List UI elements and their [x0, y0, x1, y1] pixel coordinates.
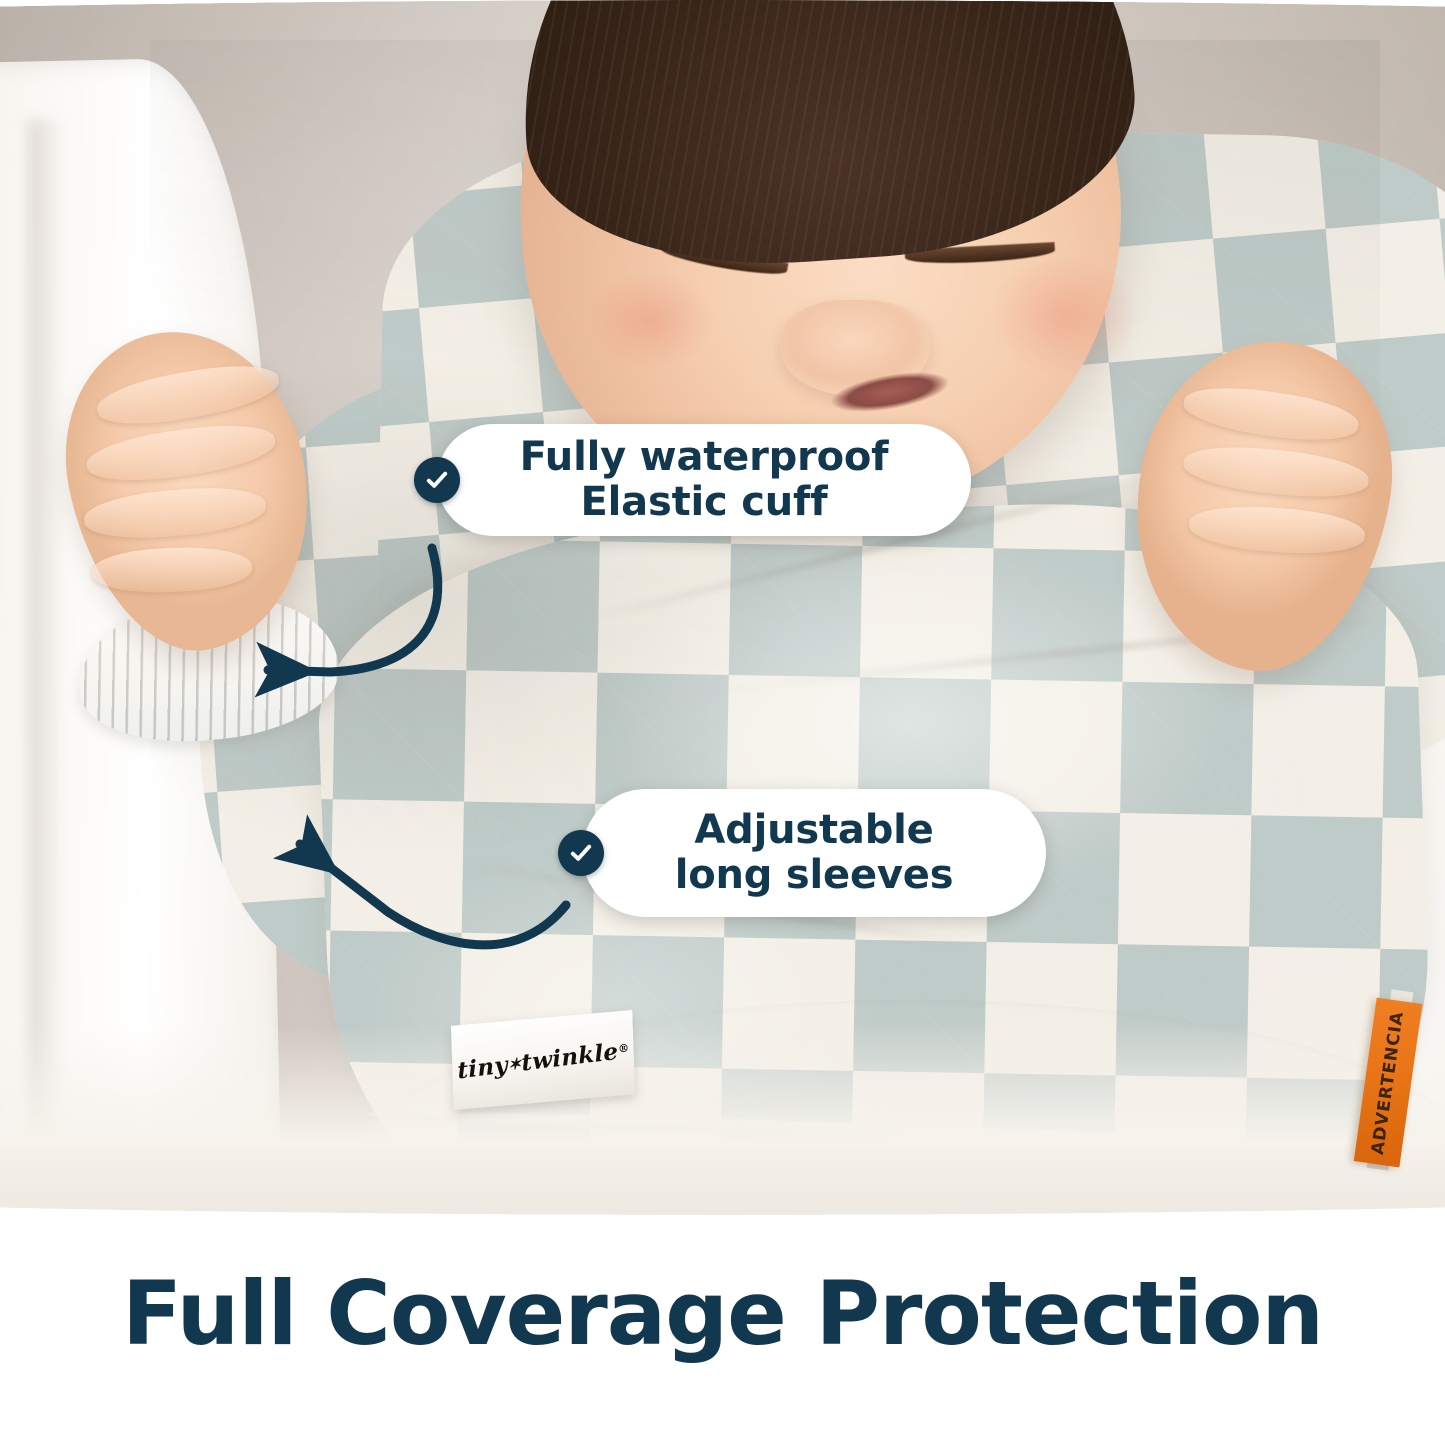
- callout-text-waterproof-cuff: Fully waterproof Elastic cuff: [520, 435, 889, 525]
- brand-star-icon: ✶: [507, 1053, 522, 1074]
- product-feature-image: ADVERTENCIA tiny✶twinkle® Fully: [0, 0, 1445, 1445]
- baby-cheek-left: [560, 250, 740, 390]
- callout-badge-waterproof-cuff[interactable]: Fully waterproof Elastic cuff: [437, 424, 971, 536]
- high-chair-left-edge: [28, 120, 64, 1160]
- headline-full-coverage-protection: Full Coverage Protection: [0, 1262, 1445, 1365]
- callout-badge-adjustable-sleeves[interactable]: Adjustable long sleeves: [582, 789, 1046, 917]
- brand-label-text: tiny✶twinkle®: [456, 1036, 630, 1084]
- product-photo: ADVERTENCIA tiny✶twinkle®: [0, 0, 1445, 1215]
- check-circle-icon: [414, 457, 460, 503]
- brand-label: tiny✶twinkle®: [451, 1010, 635, 1110]
- callout-text-adjustable-sleeves: Adjustable long sleeves: [675, 808, 954, 898]
- check-circle-icon: [558, 830, 604, 876]
- high-chair-base: [0, 1025, 1445, 1215]
- care-tag-label: ADVERTENCIA: [1368, 1009, 1408, 1155]
